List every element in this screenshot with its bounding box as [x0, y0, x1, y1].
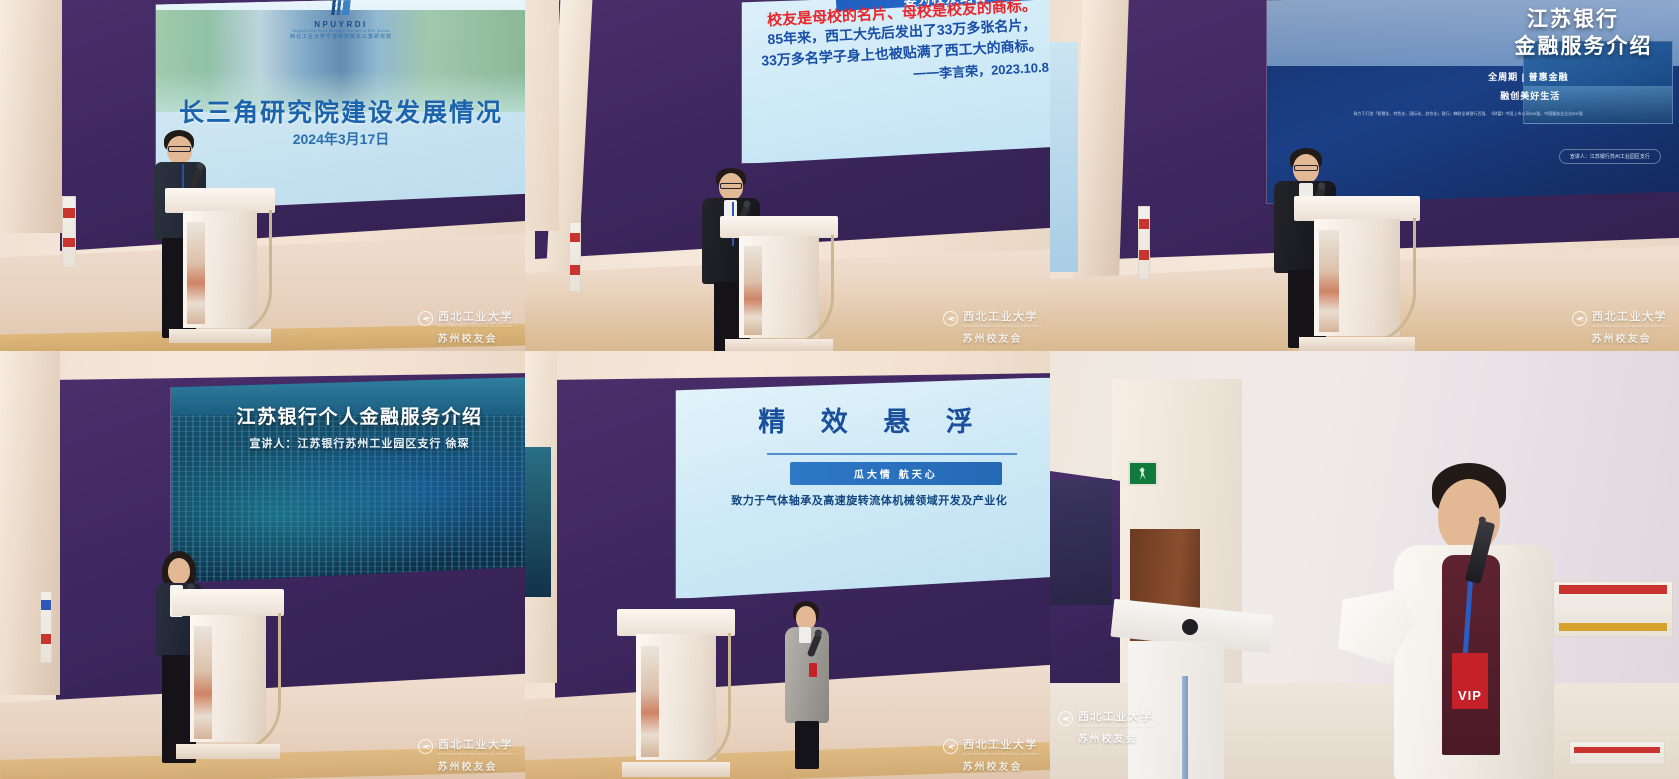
projection-screen-2: 要为校友站台 校友是母校的名片、母校是校友的商标。 85年来，西工大先后发出了3… — [741, 0, 1050, 164]
photo-collage-grid: NPUYRDI Yangtze River Delta Research Ins… — [0, 0, 1679, 779]
glasses-icon — [168, 146, 191, 152]
lectern-arc — [234, 613, 281, 752]
vip-badge-text: VIP — [1458, 688, 1482, 709]
photo-panel-bottom-center: 精 效 悬 浮 瓜大情 航天心 致力于气体轴承及高速旋转流体机械领域开发及产业化 — [525, 351, 1050, 779]
lectern-4 — [172, 589, 284, 759]
slide-alumni-quote: 要为校友站台 校友是母校的名片、母校是校友的商标。 85年来，西工大先后发出了3… — [742, 0, 1050, 163]
neighbor-screen-edge — [1050, 42, 1078, 272]
poster-title-strip — [1559, 585, 1668, 594]
lectern-base — [1299, 337, 1415, 351]
lectern-base — [725, 339, 834, 351]
banner-strip — [1139, 250, 1148, 260]
podium-body — [1128, 641, 1224, 779]
slide-subtitle: 宣讲人：江苏银行苏州工业园区支行 徐琛 — [207, 435, 512, 451]
title-underline — [767, 453, 1017, 455]
banner-strip — [570, 265, 579, 275]
lectern-top — [617, 609, 735, 636]
projection-screen-5: 精 效 悬 浮 瓜大情 航天心 致力于气体轴承及高速旋转流体机械领域开发及产业化 — [675, 377, 1050, 599]
logo-abbr: NPUYRDI — [156, 20, 525, 29]
lectern-arc — [785, 235, 835, 346]
side-banner — [62, 196, 76, 268]
slide-chip: 瓜大情 航天心 — [790, 462, 1002, 485]
banner-strip — [63, 238, 74, 248]
podium-stand — [1182, 676, 1188, 779]
bank-title-line1: 江苏银行 — [1527, 3, 1619, 33]
slide-title: 精 效 悬 浮 — [676, 400, 1050, 439]
photo-panel-top-left: NPUYRDI Yangtze River Delta Research Ins… — [0, 0, 525, 351]
bank-tagline-2: 融创美好生活 — [1500, 89, 1560, 102]
slide-title: 江苏银行个人金融服务介绍 — [200, 402, 520, 429]
hall-scene-5: 精 效 悬 浮 瓜大情 航天心 致力于气体轴承及高速旋转流体机械领域开发及产业化 — [525, 351, 1050, 779]
bank-presenter: 宣讲人：江苏银行苏州工业园区支行 — [1559, 149, 1661, 164]
banner-strip — [63, 208, 74, 218]
side-banner — [1138, 206, 1150, 280]
neighbor-screen-edge — [525, 447, 551, 597]
banner-strip — [570, 233, 579, 243]
lectern-poster — [1319, 230, 1339, 332]
glasses-icon — [720, 183, 742, 189]
lectern-poster — [187, 222, 205, 324]
logo-cn: 西北工业大学宁波研究院长三角研究院 — [156, 33, 525, 40]
bank-title-line2: 金融服务介绍 — [1514, 30, 1652, 60]
wall-corner — [525, 0, 559, 231]
wall-poster-small — [1569, 741, 1665, 765]
far-screen — [1050, 479, 1112, 605]
glasses-icon — [1294, 165, 1318, 171]
lectern-arc — [226, 210, 272, 337]
slide-subtitle: 致力于气体轴承及高速旋转流体机械领域开发及产业化 — [699, 492, 1040, 508]
lectern-poster — [641, 646, 660, 757]
banner-strip — [1139, 219, 1148, 229]
lectern-poster — [744, 246, 763, 335]
side-banner — [569, 222, 581, 292]
legs — [795, 721, 819, 769]
hall-scene-1: NPUYRDI Yangtze River Delta Research Ins… — [0, 0, 525, 351]
photo-panel-bottom-right: VIP 西北工业大学 NORTHWESTERN POLYTECHNICAL UN… — [1050, 351, 1679, 779]
lectern-3 — [1294, 196, 1420, 351]
hall-scene-2: 要为校友站台 校友是母校的名片、母校是校友的商标。 85年来，西工大先后发出了3… — [525, 0, 1050, 351]
institute-logo: NPUYRDI Yangtze River Delta Research Ins… — [156, 0, 525, 40]
lectern-poster — [194, 626, 212, 738]
poster-strip — [1574, 747, 1661, 753]
side-banner — [40, 591, 52, 663]
banner-strip — [41, 600, 50, 610]
lectern-arc — [682, 633, 732, 771]
npu-logo-icon — [331, 0, 351, 15]
podium-mic-icon — [1182, 619, 1198, 635]
lectern-1 — [165, 188, 275, 343]
collar — [799, 627, 811, 643]
lectern-base — [176, 744, 279, 759]
slide-title: 长三角研究院建设发展情况 — [156, 93, 525, 129]
emergency-exit-icon — [1128, 461, 1158, 486]
lectern-base — [169, 329, 270, 343]
wall-pillar — [0, 0, 62, 233]
lectern-base — [622, 762, 731, 777]
bank-tagline-1: 全周期 | 普惠金融 — [1488, 70, 1569, 83]
lectern-arc — [1363, 218, 1416, 345]
speaker-6: VIP — [1380, 463, 1580, 779]
photo-panel-top-center: 要为校友站台 校友是母校的名片、母校是校友的商标。 85年来，西工大先后发出了3… — [525, 0, 1050, 351]
photo-panel-top-right: 江苏银行 金融服务介绍 全周期 | 普惠金融 融创美好生活 致力于打造「智慧化、… — [1050, 0, 1679, 351]
photo-panel-bottom-left: 江苏银行个人金融服务介绍 宣讲人：江苏银行苏州工业园区支行 徐琛 — [0, 351, 525, 779]
projection-screen-4: 江苏银行个人金融服务介绍 宣讲人：江苏银行苏州工业园区支行 徐琛 — [170, 377, 525, 583]
wall-poster — [1553, 581, 1673, 637]
vip-badge: VIP — [1452, 653, 1488, 709]
bank-note: 致力于打造「智慧化、特色化、国际化、综合化」银行；蝉联全球银行百强、《财富》中国… — [1342, 111, 1593, 118]
head — [168, 558, 190, 584]
poster-bottom-strip — [1559, 623, 1668, 631]
slide-jingxiao: 精 效 悬 浮 瓜大情 航天心 致力于气体轴承及高速旋转流体机械领域开发及产业化 — [676, 378, 1050, 598]
hall-scene-4: 江苏银行个人金融服务介绍 宣讲人：江苏银行苏州工业园区支行 徐琛 — [0, 351, 525, 779]
speaker-5 — [781, 601, 843, 769]
hall-scene-3: 江苏银行 金融服务介绍 全周期 | 普惠金融 融创美好生活 致力于打造「智慧化、… — [1050, 0, 1679, 351]
lectern-5 — [617, 609, 735, 777]
banner-strip — [41, 634, 50, 644]
lectern-2 — [720, 216, 838, 351]
hall-scene-6: VIP — [1050, 351, 1679, 779]
slide-personal-finance: 江苏银行个人金融服务介绍 宣讲人：江苏银行苏州工业园区支行 徐琛 — [171, 378, 525, 582]
name-badge — [809, 663, 817, 677]
